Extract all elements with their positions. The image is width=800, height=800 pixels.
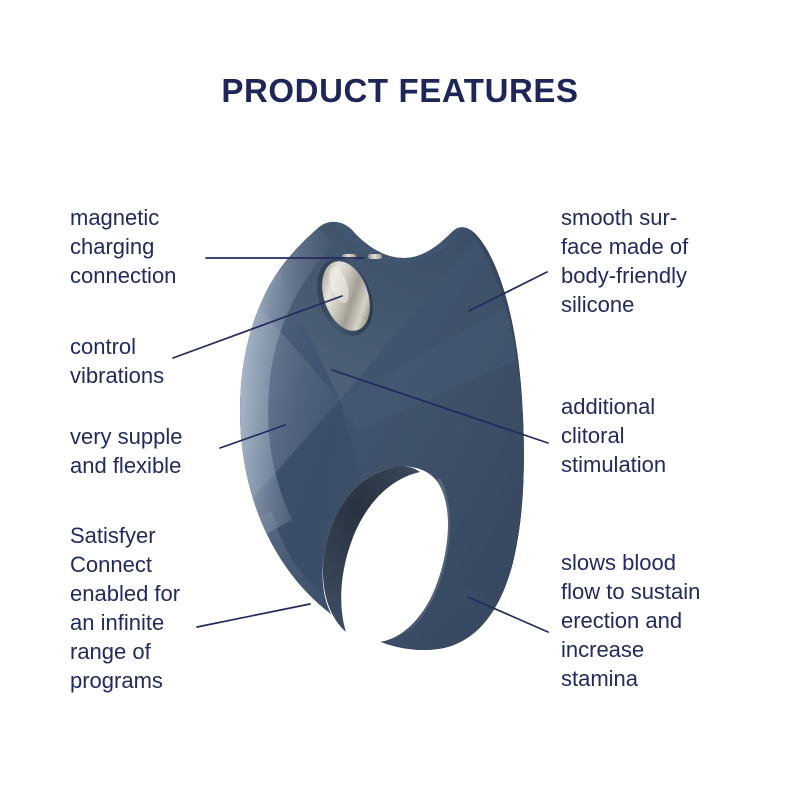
left-rim-highlight (240, 228, 334, 534)
leader-satisfyer-connect (197, 604, 310, 627)
feature-label-slows-blood-flow: slows blood flow to sustain erection and… (561, 548, 700, 693)
leader-additional-clitoral-stimulation (332, 370, 548, 443)
ring-opening (323, 466, 450, 642)
metallic-control-button (307, 251, 382, 344)
leader-slows-blood-flow (468, 597, 548, 632)
leader-control-vibrations (173, 296, 342, 358)
charging-contact-right (368, 254, 382, 259)
right-edge-falloff (462, 200, 560, 660)
silicone-outer-shell (240, 222, 524, 650)
page-title: PRODUCT FEATURES (0, 72, 800, 110)
leader-smooth-surface-silicone (469, 272, 547, 311)
button-specular (325, 264, 352, 305)
right-lobe-shade (300, 218, 560, 700)
feature-label-additional-clitoral-stimulation: additional clitoral stimulation (561, 392, 666, 479)
crossing-seam (340, 300, 560, 430)
feature-label-control-vibrations: control vibrations (70, 332, 164, 390)
magnetic-charging-contacts (342, 254, 382, 259)
feature-label-very-supple-and-flexible: very supple and flexible (70, 422, 183, 480)
lower-left-facet (215, 400, 420, 700)
button-bezel (307, 251, 382, 344)
ring-hole (323, 467, 448, 643)
upper-facet (250, 210, 500, 400)
ring-rim-light (404, 478, 450, 634)
ring-inner-wall (323, 466, 420, 632)
left-facet (205, 250, 340, 560)
product-features-infographic: PRODUCT FEATURES (0, 0, 800, 800)
top-saddle-shade (336, 206, 462, 262)
button-face (313, 255, 378, 337)
feature-label-smooth-surface-silicone: smooth sur- face made of body-friendly s… (561, 203, 688, 319)
feature-label-satisfyer-connect: Satisfyer Connect enabled for an infinit… (70, 521, 180, 695)
product-body (205, 200, 560, 700)
leader-very-supple-and-flexible (220, 425, 285, 448)
charging-contact-left (342, 254, 356, 259)
leader-lines (173, 258, 548, 632)
feature-label-magnetic-charging-connection: magnetic charging connection (70, 203, 176, 290)
bottom-sheen (250, 512, 502, 655)
